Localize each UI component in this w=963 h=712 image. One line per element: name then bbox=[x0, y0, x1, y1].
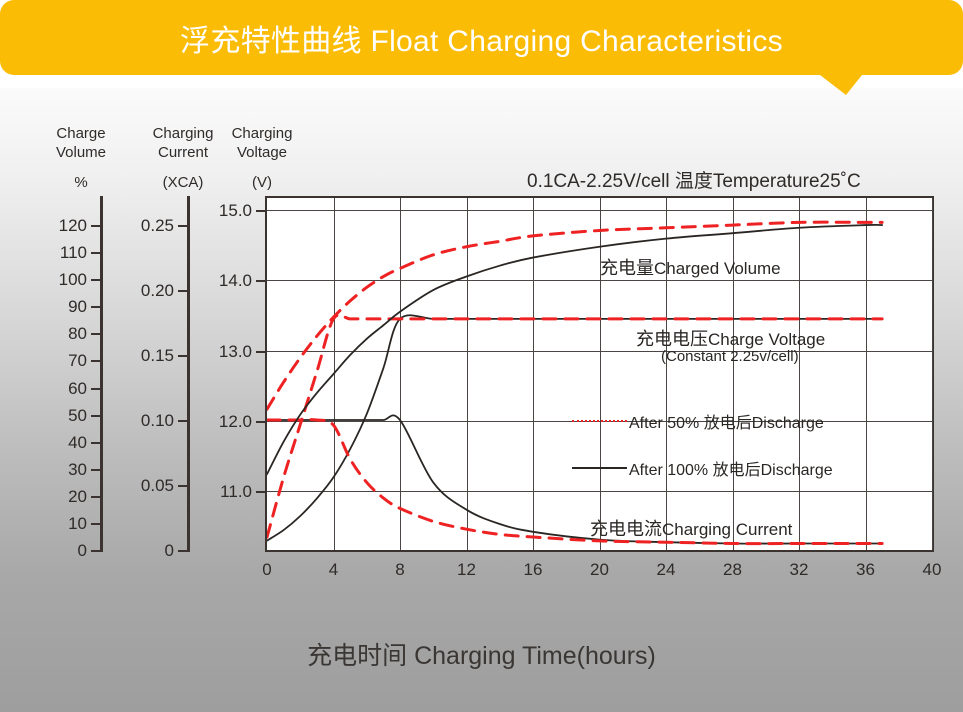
legend-item-50-discharge: After 50% 放电后Discharge bbox=[572, 409, 824, 433]
axis-volume-title-line2: Volume bbox=[32, 143, 130, 162]
plot-area bbox=[265, 196, 934, 552]
axis-voltage-unit: (V) bbox=[210, 174, 314, 191]
axis-volume-title-line1: Charge bbox=[32, 124, 130, 143]
x-tick-label: 16 bbox=[524, 560, 543, 580]
annotation-charging-current-en: Charging Current bbox=[662, 520, 792, 539]
annotation-charged-volume: 充电量Charged Volume bbox=[600, 254, 781, 280]
annotation-charging-current: 充电电流Charging Current bbox=[590, 515, 792, 541]
axis-voltage-tick bbox=[256, 421, 265, 423]
axis-volume-tick bbox=[91, 252, 100, 254]
axis-volume-tick bbox=[91, 225, 100, 227]
axis-voltage-tick-label: 13.0 bbox=[198, 342, 252, 362]
axis-volume-tick-label: 80 bbox=[39, 324, 87, 344]
axis-volume-tick-label: 10 bbox=[39, 514, 87, 534]
axis-voltage-tick bbox=[256, 351, 265, 353]
header-banner: 浮充特性曲线 Float Charging Characteristics bbox=[0, 0, 963, 95]
axis-current-tick-label: 0.10 bbox=[118, 411, 174, 431]
axis-voltage-title-line1: Charging bbox=[210, 124, 314, 143]
annotation-charged-volume-cn: 充电量 bbox=[600, 258, 654, 278]
axis-voltage-tick bbox=[256, 280, 265, 282]
axis-volume-tick bbox=[91, 550, 100, 552]
x-axis-title: 充电时间 Charging Time(hours) bbox=[0, 636, 963, 672]
legend-item-label: After 50% 放电后Discharge bbox=[629, 409, 824, 433]
x-tick-label: 4 bbox=[329, 560, 338, 580]
axis-current-tick bbox=[178, 225, 187, 227]
axis-volume-tick-label: 50 bbox=[39, 406, 87, 426]
x-tick-label: 24 bbox=[657, 560, 676, 580]
axis-current-tick-label: 0.15 bbox=[118, 346, 174, 366]
axis-volume-tick bbox=[91, 523, 100, 525]
gridline-vertical bbox=[932, 198, 933, 550]
axis-volume-tick-label: 0 bbox=[39, 541, 87, 561]
axis-voltage-tick-label: 15.0 bbox=[198, 201, 252, 221]
axis-volume-tick bbox=[91, 279, 100, 281]
axis-current-tick bbox=[178, 550, 187, 552]
x-tick-label: 28 bbox=[723, 560, 742, 580]
x-tick-label: 0 bbox=[262, 560, 271, 580]
axis-current-tick bbox=[178, 420, 187, 422]
axis-current-tick-label: 0.25 bbox=[118, 216, 174, 236]
axis-current-tick bbox=[178, 485, 187, 487]
x-tick-label: 12 bbox=[457, 560, 476, 580]
axis-current-tick bbox=[178, 355, 187, 357]
x-tick-label: 32 bbox=[790, 560, 809, 580]
axis-current-tick-label: 0 bbox=[118, 541, 174, 561]
x-tick-label: 8 bbox=[395, 560, 404, 580]
axis-volume-unit: % bbox=[32, 174, 130, 191]
axis-current-tick-label: 0.05 bbox=[118, 476, 174, 496]
legend-solid-black-line-icon bbox=[572, 467, 627, 469]
axis-current-rail bbox=[187, 196, 190, 552]
legend-dashed-red-line-icon bbox=[572, 420, 627, 422]
legend-item-label: After 100% 放电后Discharge bbox=[629, 456, 833, 480]
condition-note: 0.1CA-2.25V/cell 温度Temperature25˚C bbox=[527, 166, 861, 193]
axis-current-tick bbox=[178, 290, 187, 292]
axis-voltage-tick-label: 12.0 bbox=[198, 412, 252, 432]
axis-voltage-tick bbox=[256, 491, 265, 493]
axis-current-tick-label: 0.20 bbox=[118, 281, 174, 301]
axis-volume-tick-label: 20 bbox=[39, 487, 87, 507]
annotation-charged-volume-en: Charged Volume bbox=[654, 259, 781, 278]
x-tick-label: 40 bbox=[923, 560, 942, 580]
x-tick-label: 36 bbox=[856, 560, 875, 580]
annotation-charge-voltage-en: Charge Voltage bbox=[708, 330, 825, 349]
axis-volume-tick bbox=[91, 306, 100, 308]
axis-volume-tick-label: 60 bbox=[39, 379, 87, 399]
axis-voltage-tick-label: 14.0 bbox=[198, 271, 252, 291]
axis-volume-tick bbox=[91, 360, 100, 362]
chart-page: 浮充特性曲线 Float Charging Characteristics Ch… bbox=[0, 0, 963, 712]
axis-volume-tick bbox=[91, 469, 100, 471]
axis-volume-tick-label: 90 bbox=[39, 297, 87, 317]
axis-volume-tick-label: 120 bbox=[39, 216, 87, 236]
axis-volume-tick-label: 70 bbox=[39, 351, 87, 371]
axis-volume-tick bbox=[91, 388, 100, 390]
annotation-charging-current-cn: 充电电流 bbox=[590, 519, 662, 539]
axis-volume-tick-label: 110 bbox=[39, 243, 87, 263]
annotation-charge-voltage-cn: 充电电压 bbox=[636, 329, 708, 349]
axis-volume-tick bbox=[91, 333, 100, 335]
annotation-charge-voltage-sub: (Constant 2.25v/cell) bbox=[661, 348, 799, 365]
axis-voltage-tick bbox=[256, 210, 265, 212]
legend-item-100-discharge: After 100% 放电后Discharge bbox=[572, 456, 833, 480]
axis-volume-tick bbox=[91, 442, 100, 444]
axis-volume-tick-label: 40 bbox=[39, 433, 87, 453]
x-tick-label: 20 bbox=[590, 560, 609, 580]
axis-volume-tick-label: 30 bbox=[39, 460, 87, 480]
axis-volume-tick bbox=[91, 496, 100, 498]
axis-volume-tick-label: 100 bbox=[39, 270, 87, 290]
curve-layer bbox=[267, 198, 932, 550]
page-title: 浮充特性曲线 Float Charging Characteristics bbox=[0, 0, 963, 75]
axis-volume-tick bbox=[91, 415, 100, 417]
axis-voltage-title-line2: Voltage bbox=[210, 143, 314, 162]
axis-volume-rail bbox=[100, 196, 103, 552]
axis-voltage-tick-label: 11.0 bbox=[198, 482, 252, 502]
